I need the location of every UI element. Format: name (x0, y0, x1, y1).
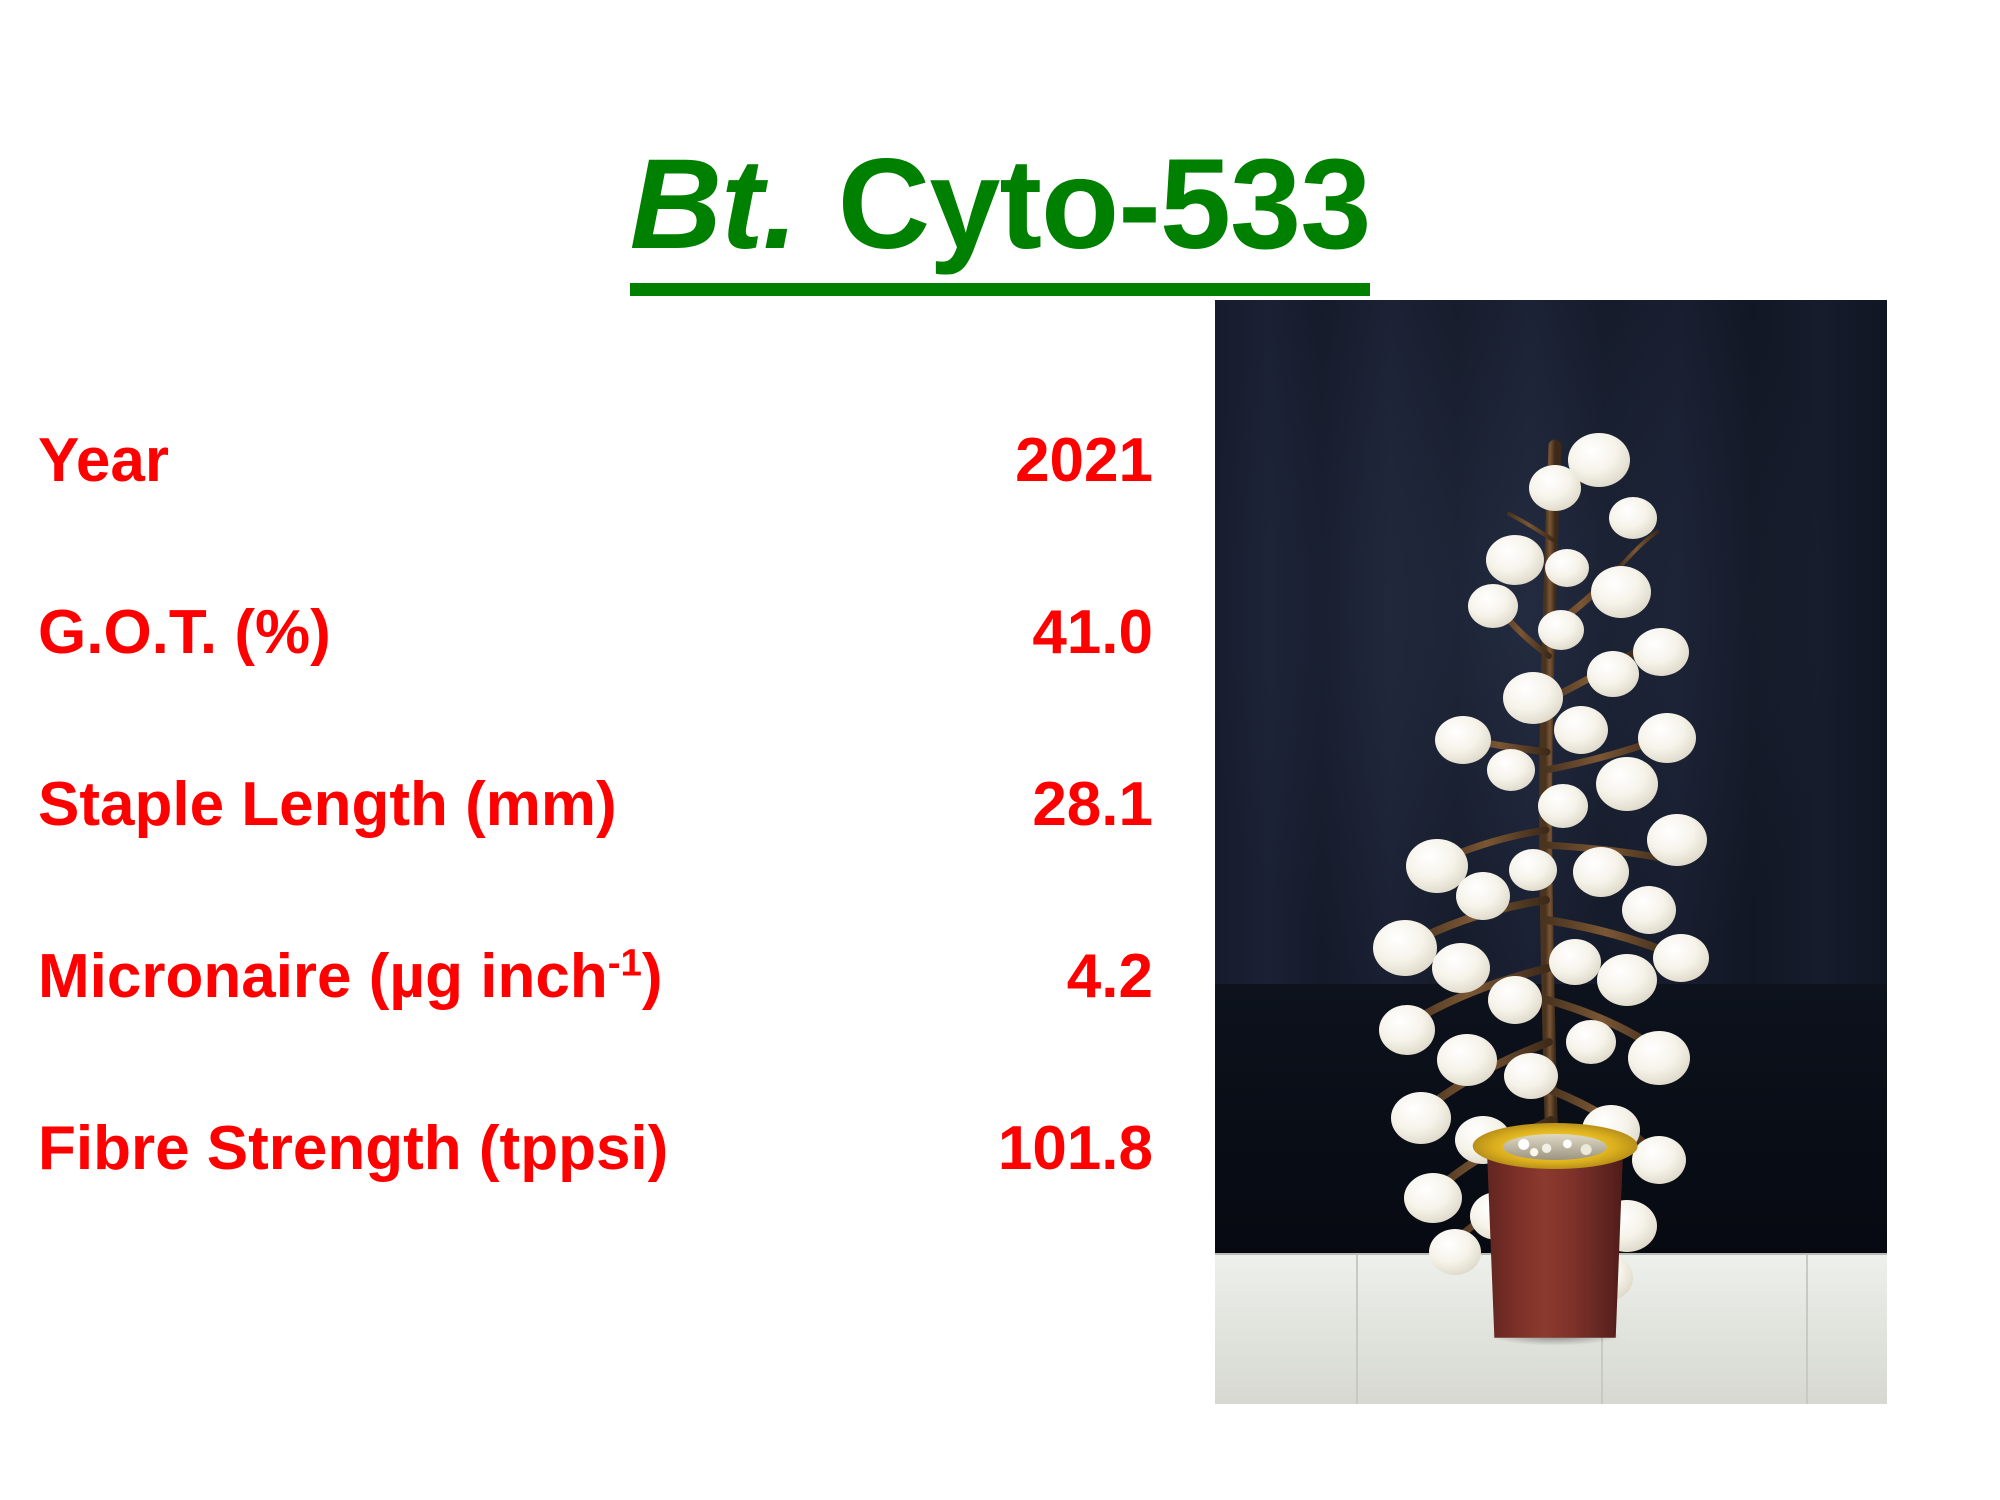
trait-label-micronaire: Micronaire (µg inch-1) (38, 946, 953, 1008)
plant-pot (1483, 1155, 1627, 1338)
table-row: Fibre Strength (tppsi) 101.8 (38, 1118, 1153, 1290)
trait-label-micronaire-prefix: Micronaire (µg inch (38, 942, 608, 1011)
traits-table: Year 2021 G.O.T. (%) 41.0 Staple Length … (38, 430, 1153, 1290)
trait-value-got: 41.0 (953, 602, 1153, 664)
trait-label-year: Year (38, 430, 953, 492)
trait-label-staple-length: Staple Length (mm) (38, 774, 953, 836)
table-row: Year 2021 (38, 430, 1153, 602)
page-title-italic-part: Bt. (630, 133, 804, 276)
page-title-regular-part: Cyto-533 (803, 133, 1370, 276)
trait-value-fibre-strength: 101.8 (953, 1118, 1153, 1180)
page-title: Bt. Cyto-533 (630, 141, 1371, 296)
table-row: G.O.T. (%) 41.0 (38, 602, 1153, 774)
table-row: Micronaire (µg inch-1) 4.2 (38, 946, 1153, 1118)
trait-value-micronaire: 4.2 (953, 946, 1153, 1008)
trait-label-got: G.O.T. (%) (38, 602, 953, 664)
trait-value-year: 2021 (953, 430, 1153, 492)
trait-label-fibre-strength: Fibre Strength (tppsi) (38, 1118, 953, 1180)
trait-label-micronaire-superscript: -1 (608, 941, 642, 984)
trait-value-staple-length: 28.1 (953, 774, 1153, 836)
table-row: Staple Length (mm) 28.1 (38, 774, 1153, 946)
cotton-plant-photo (1215, 300, 1887, 1404)
trait-label-micronaire-suffix: ) (642, 942, 663, 1011)
